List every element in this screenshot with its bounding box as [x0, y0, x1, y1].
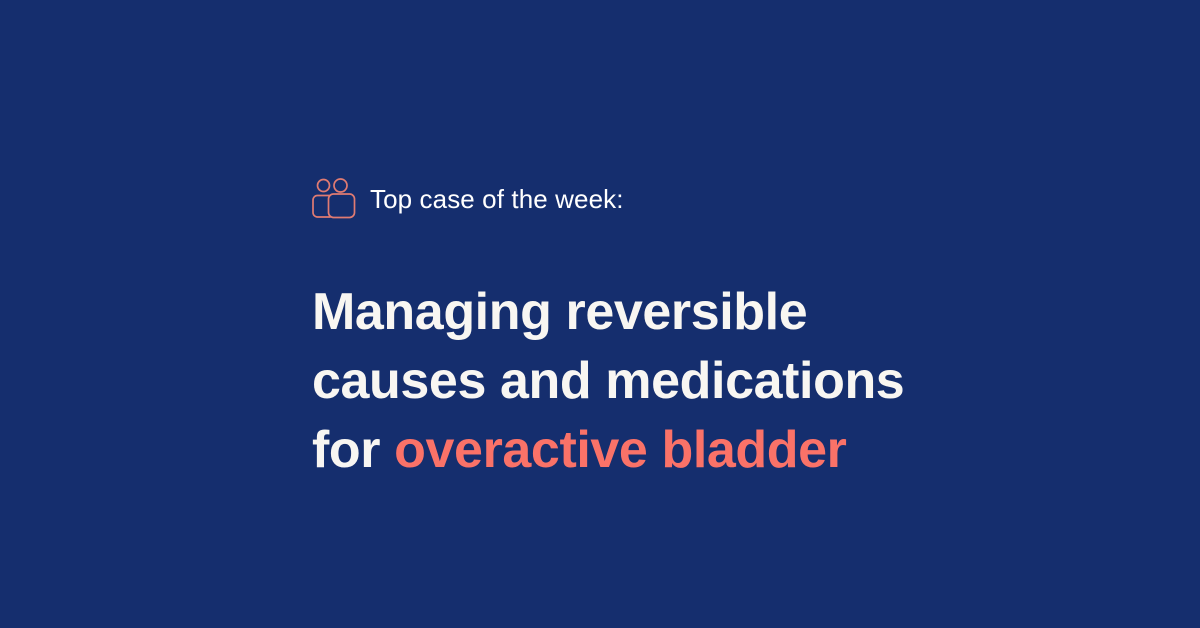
- headline-accent-phrase: overactive bladder: [394, 421, 846, 479]
- headline-line-2: causes and medications: [312, 347, 952, 416]
- headline-line-1: Managing reversible: [312, 278, 952, 347]
- two-people-icon: [312, 178, 357, 219]
- promo-card: Top case of the week: Managing reversibl…: [0, 0, 1200, 628]
- headline: Managing reversible causes and medicatio…: [312, 278, 952, 485]
- headline-line-3: for overactive bladder: [312, 416, 952, 485]
- headline-line-3-prefix: for: [312, 421, 394, 479]
- eyebrow: Top case of the week:: [312, 178, 624, 219]
- eyebrow-label: Top case of the week:: [370, 184, 624, 214]
